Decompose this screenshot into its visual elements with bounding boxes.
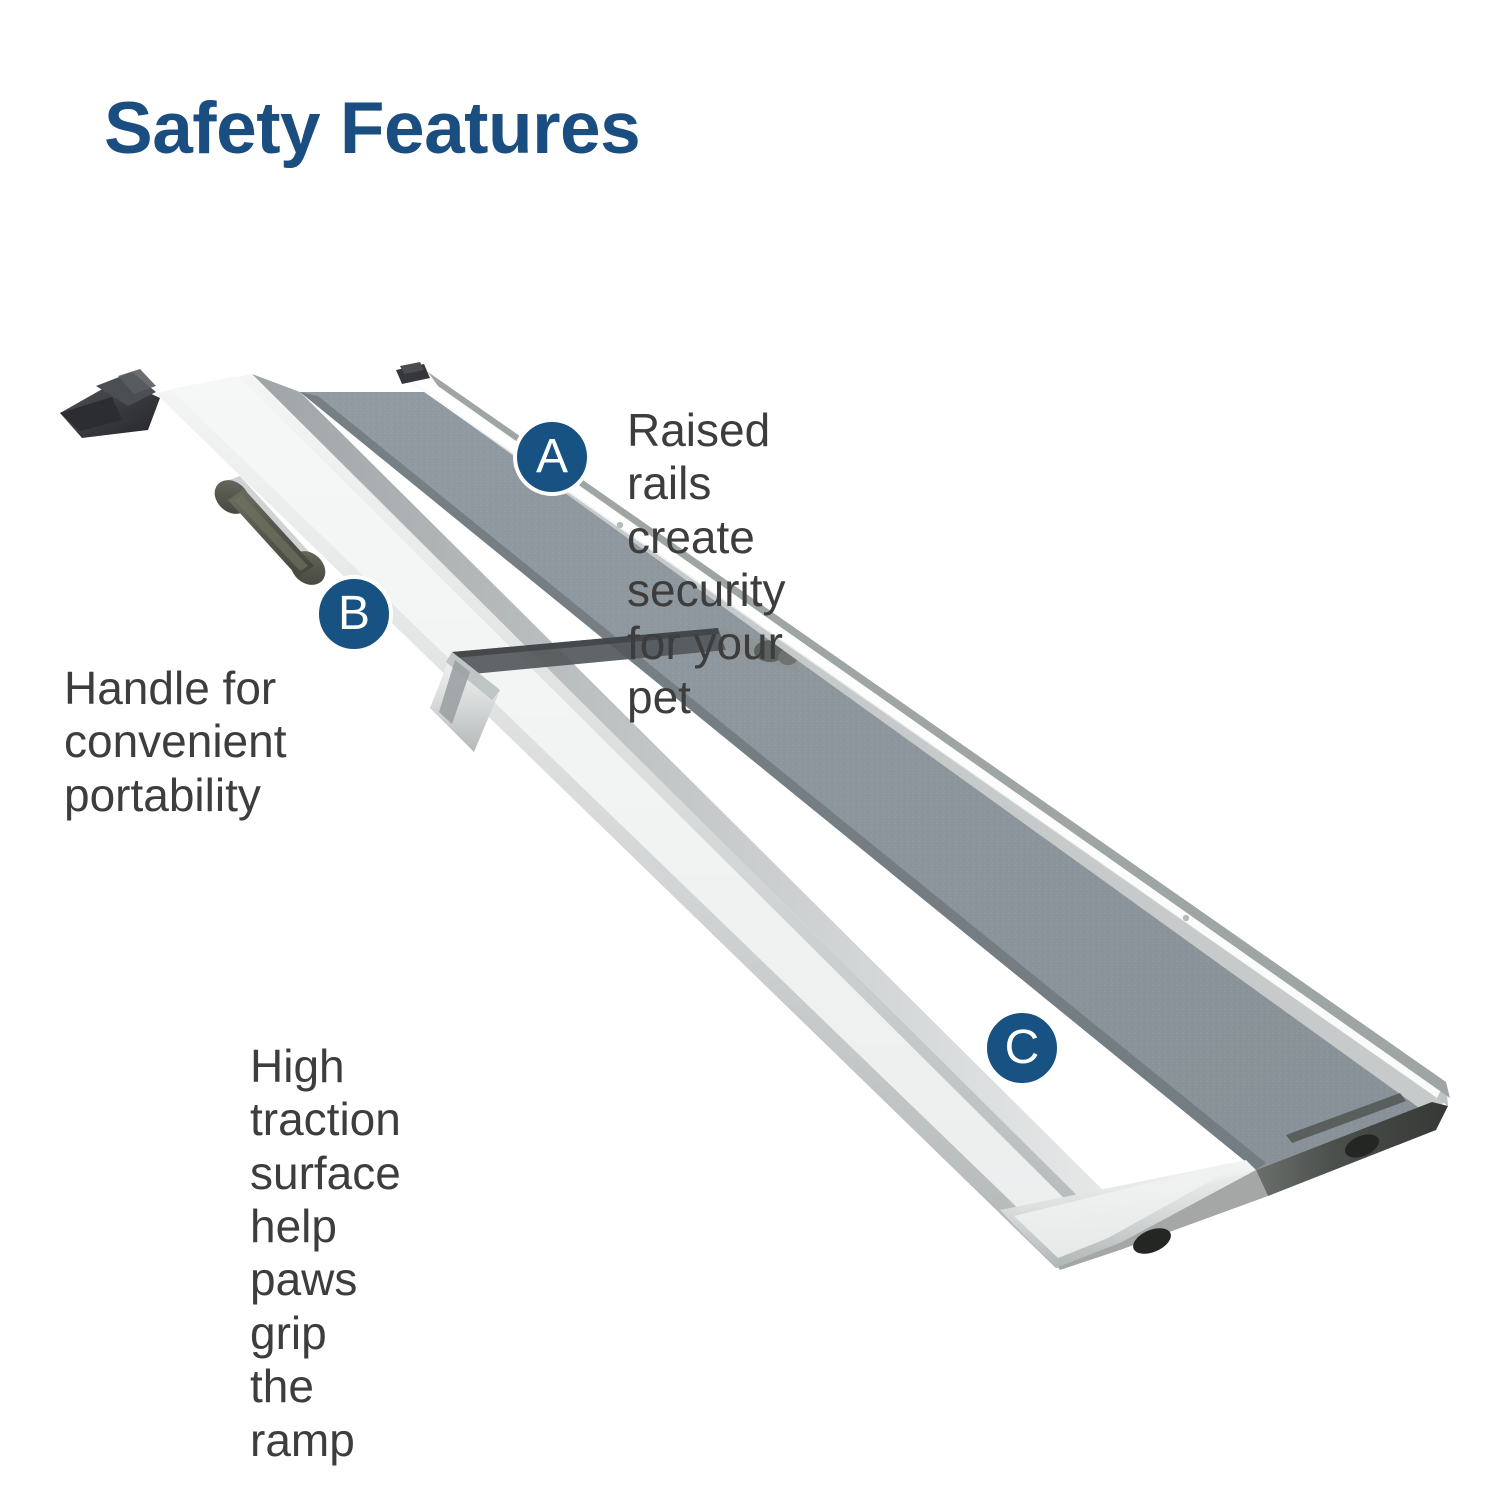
callout-b-text: Handle for convenient portability [64, 662, 287, 822]
rail-end-clip [396, 362, 430, 384]
carry-handle [208, 473, 332, 592]
badge-c[interactable]: C [983, 1009, 1061, 1087]
page-title: Safety Features [104, 92, 640, 166]
rubber-foot [1342, 1130, 1383, 1162]
badge-a[interactable]: A [513, 418, 591, 496]
badge-b[interactable]: B [315, 575, 393, 653]
rubber-foot [1129, 1223, 1174, 1259]
infographic-canvas: Safety Features [0, 0, 1500, 1500]
high-traction-deck [300, 392, 1432, 1170]
callout-c-text: High traction surface help paws grip the… [250, 1040, 401, 1467]
rubber-hook-end [60, 369, 160, 438]
ramp-ground-end [1000, 1093, 1448, 1270]
callout-a-text: Raised rails create security for your pe… [627, 404, 785, 724]
